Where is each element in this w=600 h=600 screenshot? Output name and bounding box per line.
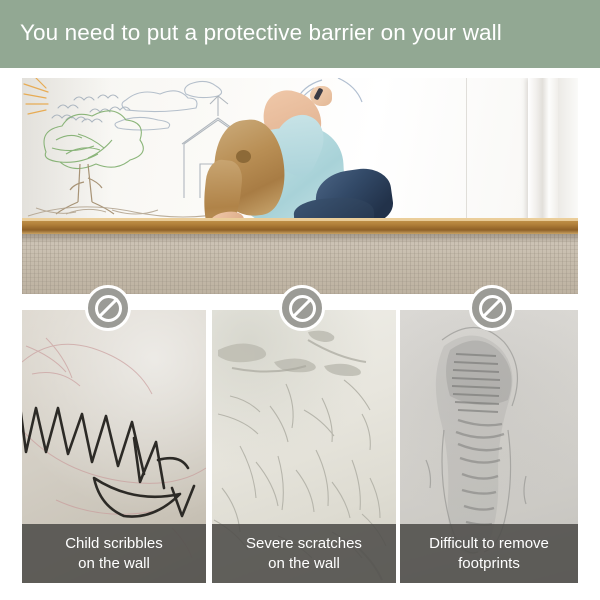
- page-title: You need to put a protective barrier on …: [20, 20, 585, 46]
- caption-line-1: Difficult to remove: [429, 535, 549, 553]
- caption-line-2: on the wall: [268, 555, 340, 573]
- prohibition-ring: [95, 295, 122, 322]
- hero-photo: [22, 78, 578, 294]
- panel-caption-difficult-footprints: Difficult to remove footprints: [400, 524, 578, 583]
- girl-figure: [198, 86, 378, 236]
- prohibition-slash: [291, 297, 312, 318]
- panel-caption-severe-scratches: Severe scratches on the wall: [212, 524, 396, 583]
- panel-caption-child-scribbles: Child scribbles on the wall: [22, 524, 206, 583]
- caption-line-2: on the wall: [78, 555, 150, 573]
- problem-panel-difficult-footprints: Difficult to remove footprints: [400, 310, 578, 583]
- prohibition-icon: [469, 285, 515, 331]
- prohibition-slash: [481, 297, 502, 318]
- prohibition-icon: [279, 285, 325, 331]
- caption-line-1: Child scribbles: [65, 535, 163, 553]
- caption-line-2: footprints: [458, 555, 520, 573]
- baseboard-highlight: [22, 218, 578, 221]
- caption-line-1: Severe scratches: [246, 535, 362, 553]
- prohibition-icon: [85, 285, 131, 331]
- prohibition-slash: [97, 297, 118, 318]
- girl-hair-tie: [236, 150, 251, 163]
- carpet-shadow: [22, 234, 578, 243]
- prohibition-ring: [479, 295, 506, 322]
- header-banner: You need to put a protective barrier on …: [0, 0, 600, 68]
- promo-page: You need to put a protective barrier on …: [0, 0, 600, 600]
- prohibition-ring: [289, 295, 316, 322]
- problem-panel-child-scribbles: Child scribbles on the wall: [22, 310, 206, 583]
- problem-panel-severe-scratches: Severe scratches on the wall: [212, 310, 396, 583]
